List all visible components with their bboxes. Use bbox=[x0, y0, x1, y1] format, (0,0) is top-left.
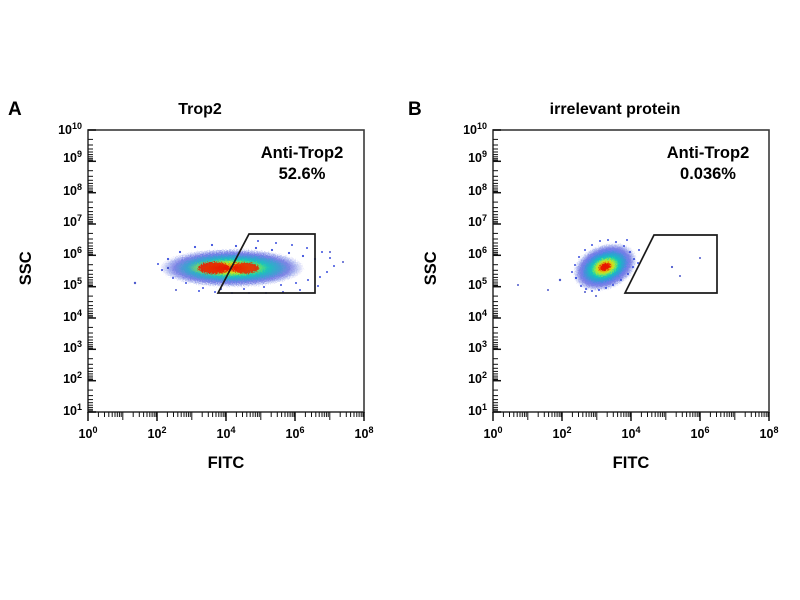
panel-b-y-ticks bbox=[493, 130, 501, 412]
panel-b-x-axis-title: FITC bbox=[571, 455, 691, 472]
panel-a-gate-percent: 52.6% bbox=[232, 164, 372, 185]
panel-a-ytick-2: 102 bbox=[34, 373, 82, 386]
panel-a-ytick-5: 105 bbox=[34, 279, 82, 292]
panel-b-ytick-2: 102 bbox=[439, 373, 487, 386]
panel-a-plot bbox=[0, 0, 400, 600]
panel-b-xtick-0: 100 bbox=[473, 428, 513, 441]
panel-b-x-ticks bbox=[493, 412, 769, 421]
panel-b-ytick-7: 107 bbox=[439, 216, 487, 229]
panel-a-x-minor-ticks bbox=[98, 412, 363, 420]
panel-a-ytick-4: 104 bbox=[34, 311, 82, 324]
panel-a-density-cloud bbox=[134, 240, 344, 294]
panel-b-xtick-6: 106 bbox=[680, 428, 720, 441]
panel-a-xtick-6: 106 bbox=[275, 428, 315, 441]
panel-a-y-ticks bbox=[88, 130, 96, 412]
panel-b-ytick-1: 101 bbox=[439, 405, 487, 418]
panel-b-ytick-10: 1010 bbox=[439, 124, 487, 137]
panel-b-ytick-6: 106 bbox=[439, 248, 487, 261]
panel-a-ytick-1: 101 bbox=[34, 405, 82, 418]
panel-a-y-axis-title: SSC bbox=[18, 238, 35, 298]
panel-b-xtick-8: 108 bbox=[749, 428, 789, 441]
panel-b-ytick-5: 105 bbox=[439, 279, 487, 292]
panel-b-ytick-4: 104 bbox=[439, 311, 487, 324]
panel-a-x-axis-title: FITC bbox=[166, 455, 286, 472]
panel-b-x-minor-ticks bbox=[503, 412, 768, 420]
panel-a-annotation-label: Anti-Trop2 bbox=[232, 143, 372, 164]
panel-a-x-ticks bbox=[88, 412, 364, 421]
panel-a-annotation: Anti-Trop2 52.6% bbox=[232, 143, 372, 184]
panel-b-ytick-9: 109 bbox=[439, 152, 487, 165]
panel-a-ytick-10: 1010 bbox=[34, 124, 82, 137]
panel-b-y-axis-title: SSC bbox=[423, 238, 440, 298]
panel-b-xtick-4: 104 bbox=[611, 428, 651, 441]
panel-a-xtick-8: 108 bbox=[344, 428, 384, 441]
panel-b-annotation-label: Anti-Trop2 bbox=[638, 143, 778, 164]
panel-a-ytick-7: 107 bbox=[34, 216, 82, 229]
panel-a-ytick-9: 109 bbox=[34, 152, 82, 165]
panel-b-plot bbox=[400, 0, 800, 600]
panel-a-xtick-2: 102 bbox=[137, 428, 177, 441]
panel-b-annotation: Anti-Trop2 0.036% bbox=[638, 143, 778, 184]
panel-a-xtick-0: 100 bbox=[68, 428, 108, 441]
panel-a-ytick-6: 106 bbox=[34, 248, 82, 261]
panel-a-xtick-4: 104 bbox=[206, 428, 246, 441]
panel-b-ytick-3: 103 bbox=[439, 342, 487, 355]
panel-b-gate-percent: 0.036% bbox=[638, 164, 778, 185]
flow-cytometry-figure: A Trop2 bbox=[0, 0, 800, 600]
panel-a-ytick-8: 108 bbox=[34, 185, 82, 198]
panel-a: A Trop2 bbox=[0, 0, 400, 600]
panel-b-ytick-8: 108 bbox=[439, 185, 487, 198]
panel-b-density-cloud bbox=[517, 234, 701, 300]
panel-a-ytick-3: 103 bbox=[34, 342, 82, 355]
panel-b-gate-polygon[interactable] bbox=[625, 235, 717, 293]
panel-b: B irrelevant protein bbox=[400, 0, 800, 600]
panel-b-xtick-2: 102 bbox=[542, 428, 582, 441]
